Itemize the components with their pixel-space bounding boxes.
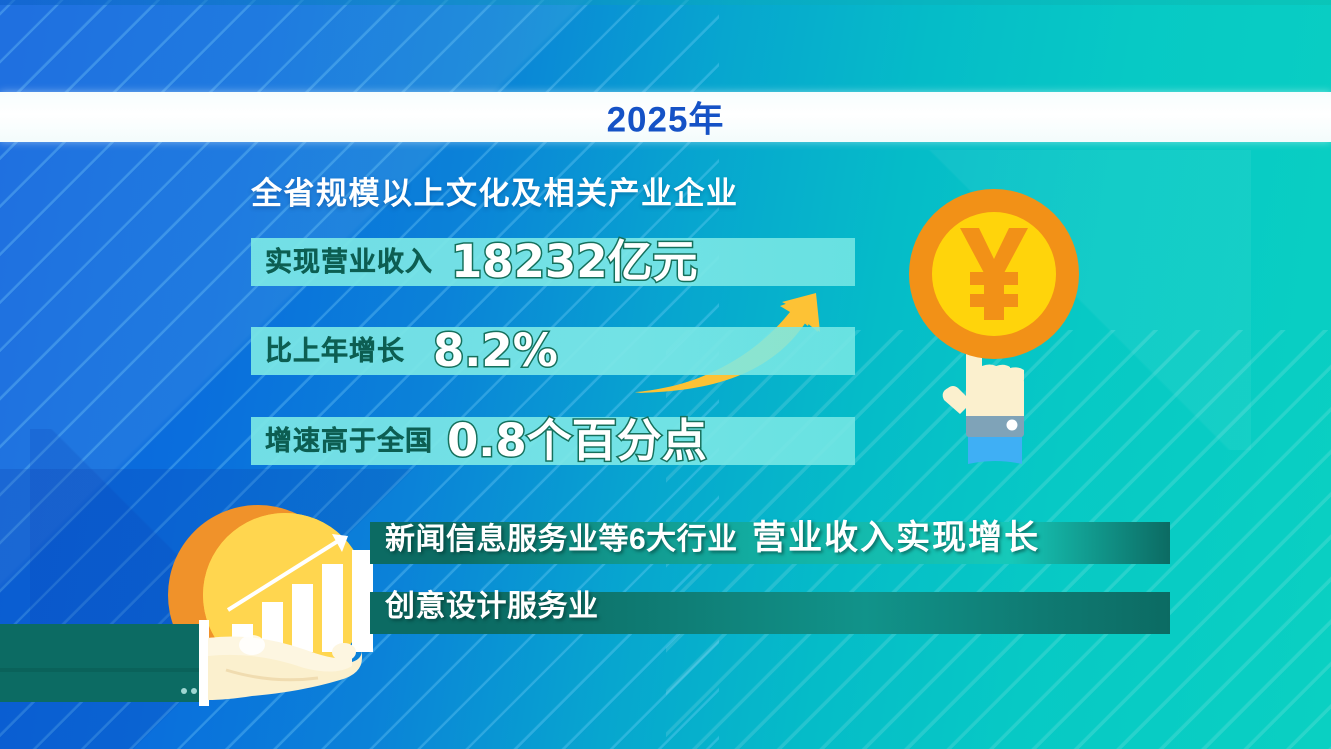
stat-label: 增速高于全国 [265, 428, 433, 455]
infographic-stage: 2025年 全省规模以上文化及相关产业企业 实现营业收入 18232亿元 比上年… [0, 0, 1331, 749]
top-edge-strip [0, 0, 1331, 5]
stat-value: 8.2% [433, 328, 558, 373]
industry-secondary-text: 营业收入实现增长 [752, 518, 1040, 558]
industry-row-label: 新闻信息服务业等6大行业 营业收入实现增长 [385, 521, 1040, 555]
industry-row-label: 创意设计服务业 [385, 592, 599, 622]
title-band: 2025年 [0, 92, 1331, 142]
stat-row: 增速高于全国 0.8个百分点 [251, 417, 855, 465]
industry-primary-text: 新闻信息服务业等6大行业 [385, 523, 738, 556]
hand-holding-coin-icon [0, 498, 420, 749]
industry-primary-text: 创意设计服务业 [385, 590, 599, 623]
stat-row: 比上年增长 8.2% [251, 327, 855, 375]
stat-label: 比上年增长 [265, 338, 405, 365]
headline-text: 全省规模以上文化及相关产业企业 [251, 168, 739, 213]
yen-coin-icon [908, 188, 1080, 360]
stat-value: 0.8个百分点 [447, 418, 707, 463]
page-title: 2025年 [0, 92, 1331, 143]
stat-value: 18232亿元 [451, 239, 698, 284]
stat-row: 实现营业收入 18232亿元 [251, 238, 855, 286]
stat-label: 实现营业收入 [265, 249, 433, 276]
